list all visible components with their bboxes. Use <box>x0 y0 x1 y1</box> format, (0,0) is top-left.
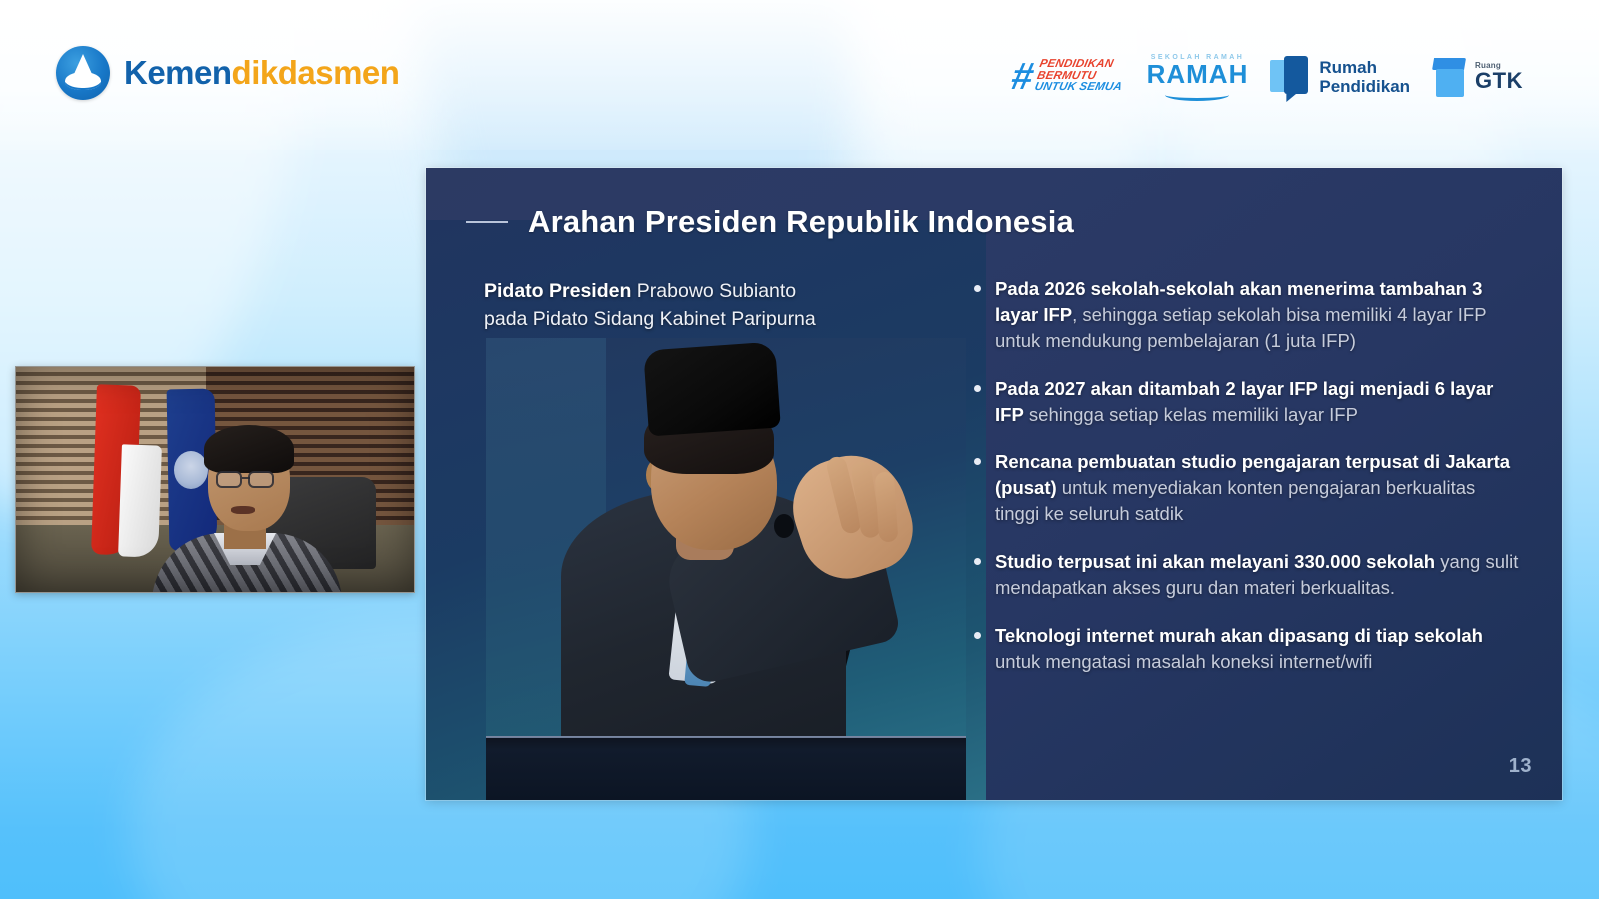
brand-wordmark: Kemendikdasmen <box>124 54 399 92</box>
bullet-dot-icon <box>974 458 981 465</box>
rumah-line1: Rumah <box>1319 58 1410 77</box>
bullet-bold-4: Teknologi internet murah akan dipasang d… <box>995 625 1483 646</box>
slide-title-row: Arahan Presiden Republik Indonesia <box>466 204 1074 240</box>
glasses-left-lens <box>216 471 242 488</box>
bullet-dot-icon <box>974 385 981 392</box>
tutwuri-handayani-logo-icon <box>56 46 110 100</box>
rumah-pendidikan-logo: Rumah Pendidikan <box>1270 50 1410 104</box>
bullet-text: Pada 2027 akan ditambah 2 layar IFP lagi… <box>995 376 1522 428</box>
bullet-rest-4: untuk mengatasi masalah koneksi internet… <box>995 651 1372 672</box>
bullet-list: Pada 2026 sekolah-sekolah akan menerima … <box>974 276 1522 697</box>
open-book-icon <box>1270 56 1310 98</box>
ramah-logo: SEKOLAH RAMAH RAMAH <box>1147 50 1249 104</box>
pbus-line3: UNTUK SEMUA <box>1034 83 1124 95</box>
list-item: Pada 2026 sekolah-sekolah akan menerima … <box>974 276 1522 354</box>
brand-word-part1: Kemen <box>124 54 232 91</box>
slide-title: Arahan Presiden Republik Indonesia <box>528 204 1074 240</box>
speaker-mouth <box>231 506 255 514</box>
bullet-dot-icon <box>974 285 981 292</box>
speaker-video-feed[interactable] <box>15 366 415 593</box>
bullet-rest-2: untuk menyediakan konten pengajaran berk… <box>995 477 1475 524</box>
speaker-note-rest: Prabowo Subianto <box>631 280 796 302</box>
bullet-text: Rencana pembuatan studio pengajaran terp… <box>995 449 1522 527</box>
box-icon <box>1432 56 1468 98</box>
rumah-pendidikan-text: Rumah Pendidikan <box>1319 58 1410 96</box>
speaker-note-line2: pada Pidato Sidang Kabinet Paripurna <box>484 308 816 330</box>
bullet-text: Pada 2026 sekolah-sekolah akan menerima … <box>995 276 1522 354</box>
partner-logo-strip: # PENDIDIKAN BERMUTU UNTUK SEMUA SEKOLAH… <box>1012 50 1523 104</box>
gtk-text-block: Ruang GTK <box>1475 62 1523 92</box>
brand-word-part2: dikdasmen <box>232 54 400 91</box>
glasses-right-lens <box>248 471 274 488</box>
rumah-line2: Pendidikan <box>1319 77 1410 96</box>
list-item: Rencana pembuatan studio pengajaran terp… <box>974 449 1522 527</box>
slide-page-number: 13 <box>1509 755 1532 778</box>
list-item: Pada 2027 akan ditambah 2 layar IFP lagi… <box>974 376 1522 428</box>
speaker-hair <box>204 425 294 473</box>
gtk-wordmark: GTK <box>1475 70 1523 92</box>
pendidikan-bermutu-untuk-semua-logo: # PENDIDIKAN BERMUTU UNTUK SEMUA <box>1012 50 1124 104</box>
speaker-note-bold: Pidato Presiden <box>484 280 631 302</box>
ramah-wordmark: RAMAH <box>1147 61 1249 87</box>
pbus-text-block: PENDIDIKAN BERMUTU UNTUK SEMUA <box>1034 59 1129 94</box>
page-header: Kemendikdasmen # PENDIDIKAN BERMUTU UNTU… <box>0 0 1599 150</box>
bullet-bold-3: Studio terpusat ini akan melayani 330.00… <box>995 551 1435 572</box>
speaker-note: Pidato Presiden Prabowo Subianto pada Pi… <box>484 278 914 333</box>
ministry-flag-emblem <box>174 451 208 489</box>
bullet-text: Studio terpusat ini akan melayani 330.00… <box>995 549 1522 601</box>
presentation-slide[interactable]: Arahan Presiden Republik Indonesia Pidat… <box>426 168 1562 800</box>
title-accent-dash <box>466 221 508 223</box>
indonesia-flag-white <box>118 444 162 557</box>
brand-lockup: Kemendikdasmen <box>56 46 399 100</box>
president-photo <box>486 338 966 800</box>
bullet-dot-icon <box>974 632 981 639</box>
bullet-text: Teknologi internet murah akan dipasang d… <box>995 623 1522 675</box>
ruang-gtk-logo: Ruang GTK <box>1432 50 1523 104</box>
bullet-dot-icon <box>974 558 981 565</box>
ramah-smile-icon <box>1165 89 1229 101</box>
list-item: Studio terpusat ini akan melayani 330.00… <box>974 549 1522 601</box>
glasses-bridge <box>242 477 250 479</box>
list-item: Teknologi internet murah akan dipasang d… <box>974 623 1522 675</box>
bullet-rest-1: sehingga setiap kelas memiliki layar IFP <box>1024 404 1358 425</box>
